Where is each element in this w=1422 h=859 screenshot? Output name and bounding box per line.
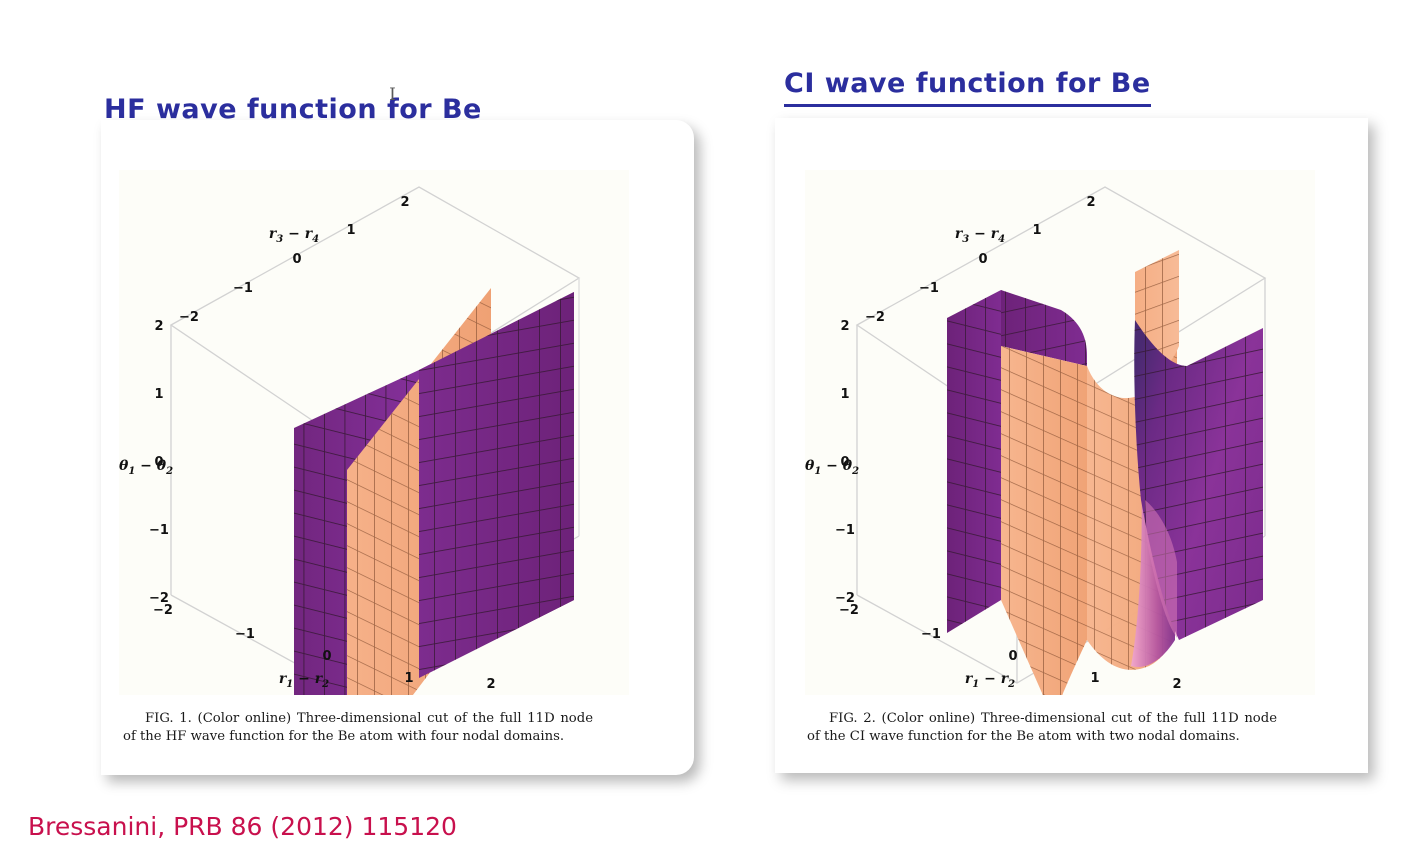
figure-panel-hf: 2 1 0 −1 −2 r3 − r4 2 1 0 −1 −2 θ1 − θ2 …: [101, 120, 694, 775]
xtick-m2: −2: [153, 603, 173, 618]
figure-image-hf: 2 1 0 −1 −2 r3 − r4 2 1 0 −1 −2 θ1 − θ2 …: [119, 170, 629, 695]
ytick-0: 0: [292, 252, 301, 267]
xtick-1: 1: [404, 671, 413, 686]
ci-node-plot: 2 1 0 −1 −2 r3 − r4 2 1 0 −1 −2 θ1 − θ2 …: [805, 170, 1315, 695]
figure-image-ci: 2 1 0 −1 −2 r3 − r4 2 1 0 −1 −2 θ1 − θ2 …: [805, 170, 1315, 695]
ztick-1: 1: [840, 387, 849, 402]
figure-caption-ci: FIG. 2. (Color online) Three-dimensional…: [807, 710, 1277, 746]
ztick-m1: −1: [149, 523, 169, 538]
xtick-m1: −1: [921, 627, 941, 642]
axis-label-z: θ1 − θ2: [119, 458, 173, 477]
axis-label-y: r3 − r4: [955, 226, 1005, 245]
ytick-0: 0: [978, 252, 987, 267]
ztick-m1: −1: [835, 523, 855, 538]
xtick-1: 1: [1090, 671, 1099, 686]
ytick-2: 2: [1086, 195, 1095, 210]
xtick-0: 0: [1008, 649, 1017, 664]
ytick-m2: −2: [865, 310, 885, 325]
ytick-m1: −1: [233, 281, 253, 296]
ytick-m1: −1: [919, 281, 939, 296]
text-cursor-icon: I: [388, 84, 397, 106]
ytick-m2: −2: [179, 310, 199, 325]
xtick-m1: −1: [235, 627, 255, 642]
page-title-ci: CI wave function for Be: [784, 68, 1151, 107]
ztick-1: 1: [154, 387, 163, 402]
surface-left-purple: [947, 290, 1001, 633]
ztick-2: 2: [154, 319, 163, 334]
xtick-0: 0: [322, 649, 331, 664]
figure-caption-hf: FIG. 1. (Color online) Three-dimensional…: [123, 710, 593, 746]
hf-node-plot: 2 1 0 −1 −2 r3 − r4 2 1 0 −1 −2 θ1 − θ2 …: [119, 170, 629, 695]
figure-panel-ci: 2 1 0 −1 −2 r3 − r4 2 1 0 −1 −2 θ1 − θ2 …: [775, 118, 1368, 773]
axis-label-x: r1 − r2: [965, 671, 1015, 690]
ztick-2: 2: [840, 319, 849, 334]
ytick-1: 1: [346, 223, 355, 238]
axis-label-y: r3 − r4: [269, 226, 319, 245]
xtick-m2: −2: [839, 603, 859, 618]
ytick-2: 2: [400, 195, 409, 210]
citation-reference: Bressanini, PRB 86 (2012) 115120: [28, 812, 457, 841]
ytick-1: 1: [1032, 223, 1041, 238]
axis-label-z: θ1 − θ2: [805, 458, 859, 477]
xtick-2: 2: [1172, 677, 1181, 692]
xtick-2: 2: [486, 677, 495, 692]
surface-left-orange: [1001, 346, 1087, 695]
